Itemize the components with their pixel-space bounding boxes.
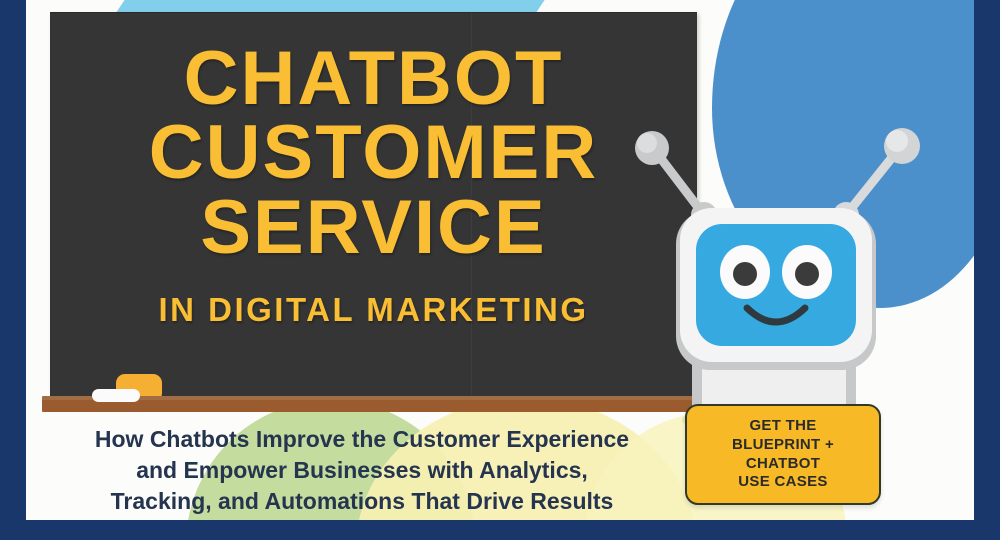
headline-group: CHATBOT CUSTOMER SERVICE IN DIGITAL MARK… bbox=[50, 42, 697, 329]
chalkboard: CHATBOT CUSTOMER SERVICE IN DIGITAL MARK… bbox=[50, 12, 697, 396]
subtitle-line-1: How Chatbots Improve the Customer Experi… bbox=[52, 424, 672, 455]
frame-border-right bbox=[974, 0, 1000, 540]
headline-line-3: SERVICE bbox=[50, 191, 697, 265]
headline-line-2: CUSTOMER bbox=[50, 116, 697, 190]
poster-canvas: CHATBOT CUSTOMER SERVICE IN DIGITAL MARK… bbox=[0, 0, 1000, 540]
subtitle-block: How Chatbots Improve the Customer Experi… bbox=[52, 424, 672, 516]
cta-button[interactable]: GET THE BLUEPRINT + CHATBOT USE CASES bbox=[685, 404, 881, 505]
headline-subline: IN DIGITAL MARKETING bbox=[50, 291, 697, 329]
cta-line-2: BLUEPRINT + bbox=[732, 436, 834, 455]
cta-button-label: GET THE BLUEPRINT + CHATBOT USE CASES bbox=[732, 417, 834, 492]
poster-page: CHATBOT CUSTOMER SERVICE IN DIGITAL MARK… bbox=[26, 0, 974, 520]
headline-line-1: CHATBOT bbox=[50, 42, 697, 116]
chalkboard-ledge bbox=[42, 396, 703, 412]
cta-line-1: GET THE bbox=[732, 417, 834, 436]
cta-line-3: CHATBOT bbox=[732, 455, 834, 474]
frame-border-left bbox=[0, 0, 26, 540]
cta-line-4: USE CASES bbox=[732, 473, 834, 492]
subtitle-line-3: Tracking, and Automations That Drive Res… bbox=[52, 486, 672, 517]
chalk-stick-icon bbox=[92, 389, 140, 402]
frame-border-bottom bbox=[0, 520, 1000, 540]
subtitle-line-2: and Empower Businesses with Analytics, bbox=[52, 455, 672, 486]
robot-mascot-icon bbox=[626, 110, 946, 440]
